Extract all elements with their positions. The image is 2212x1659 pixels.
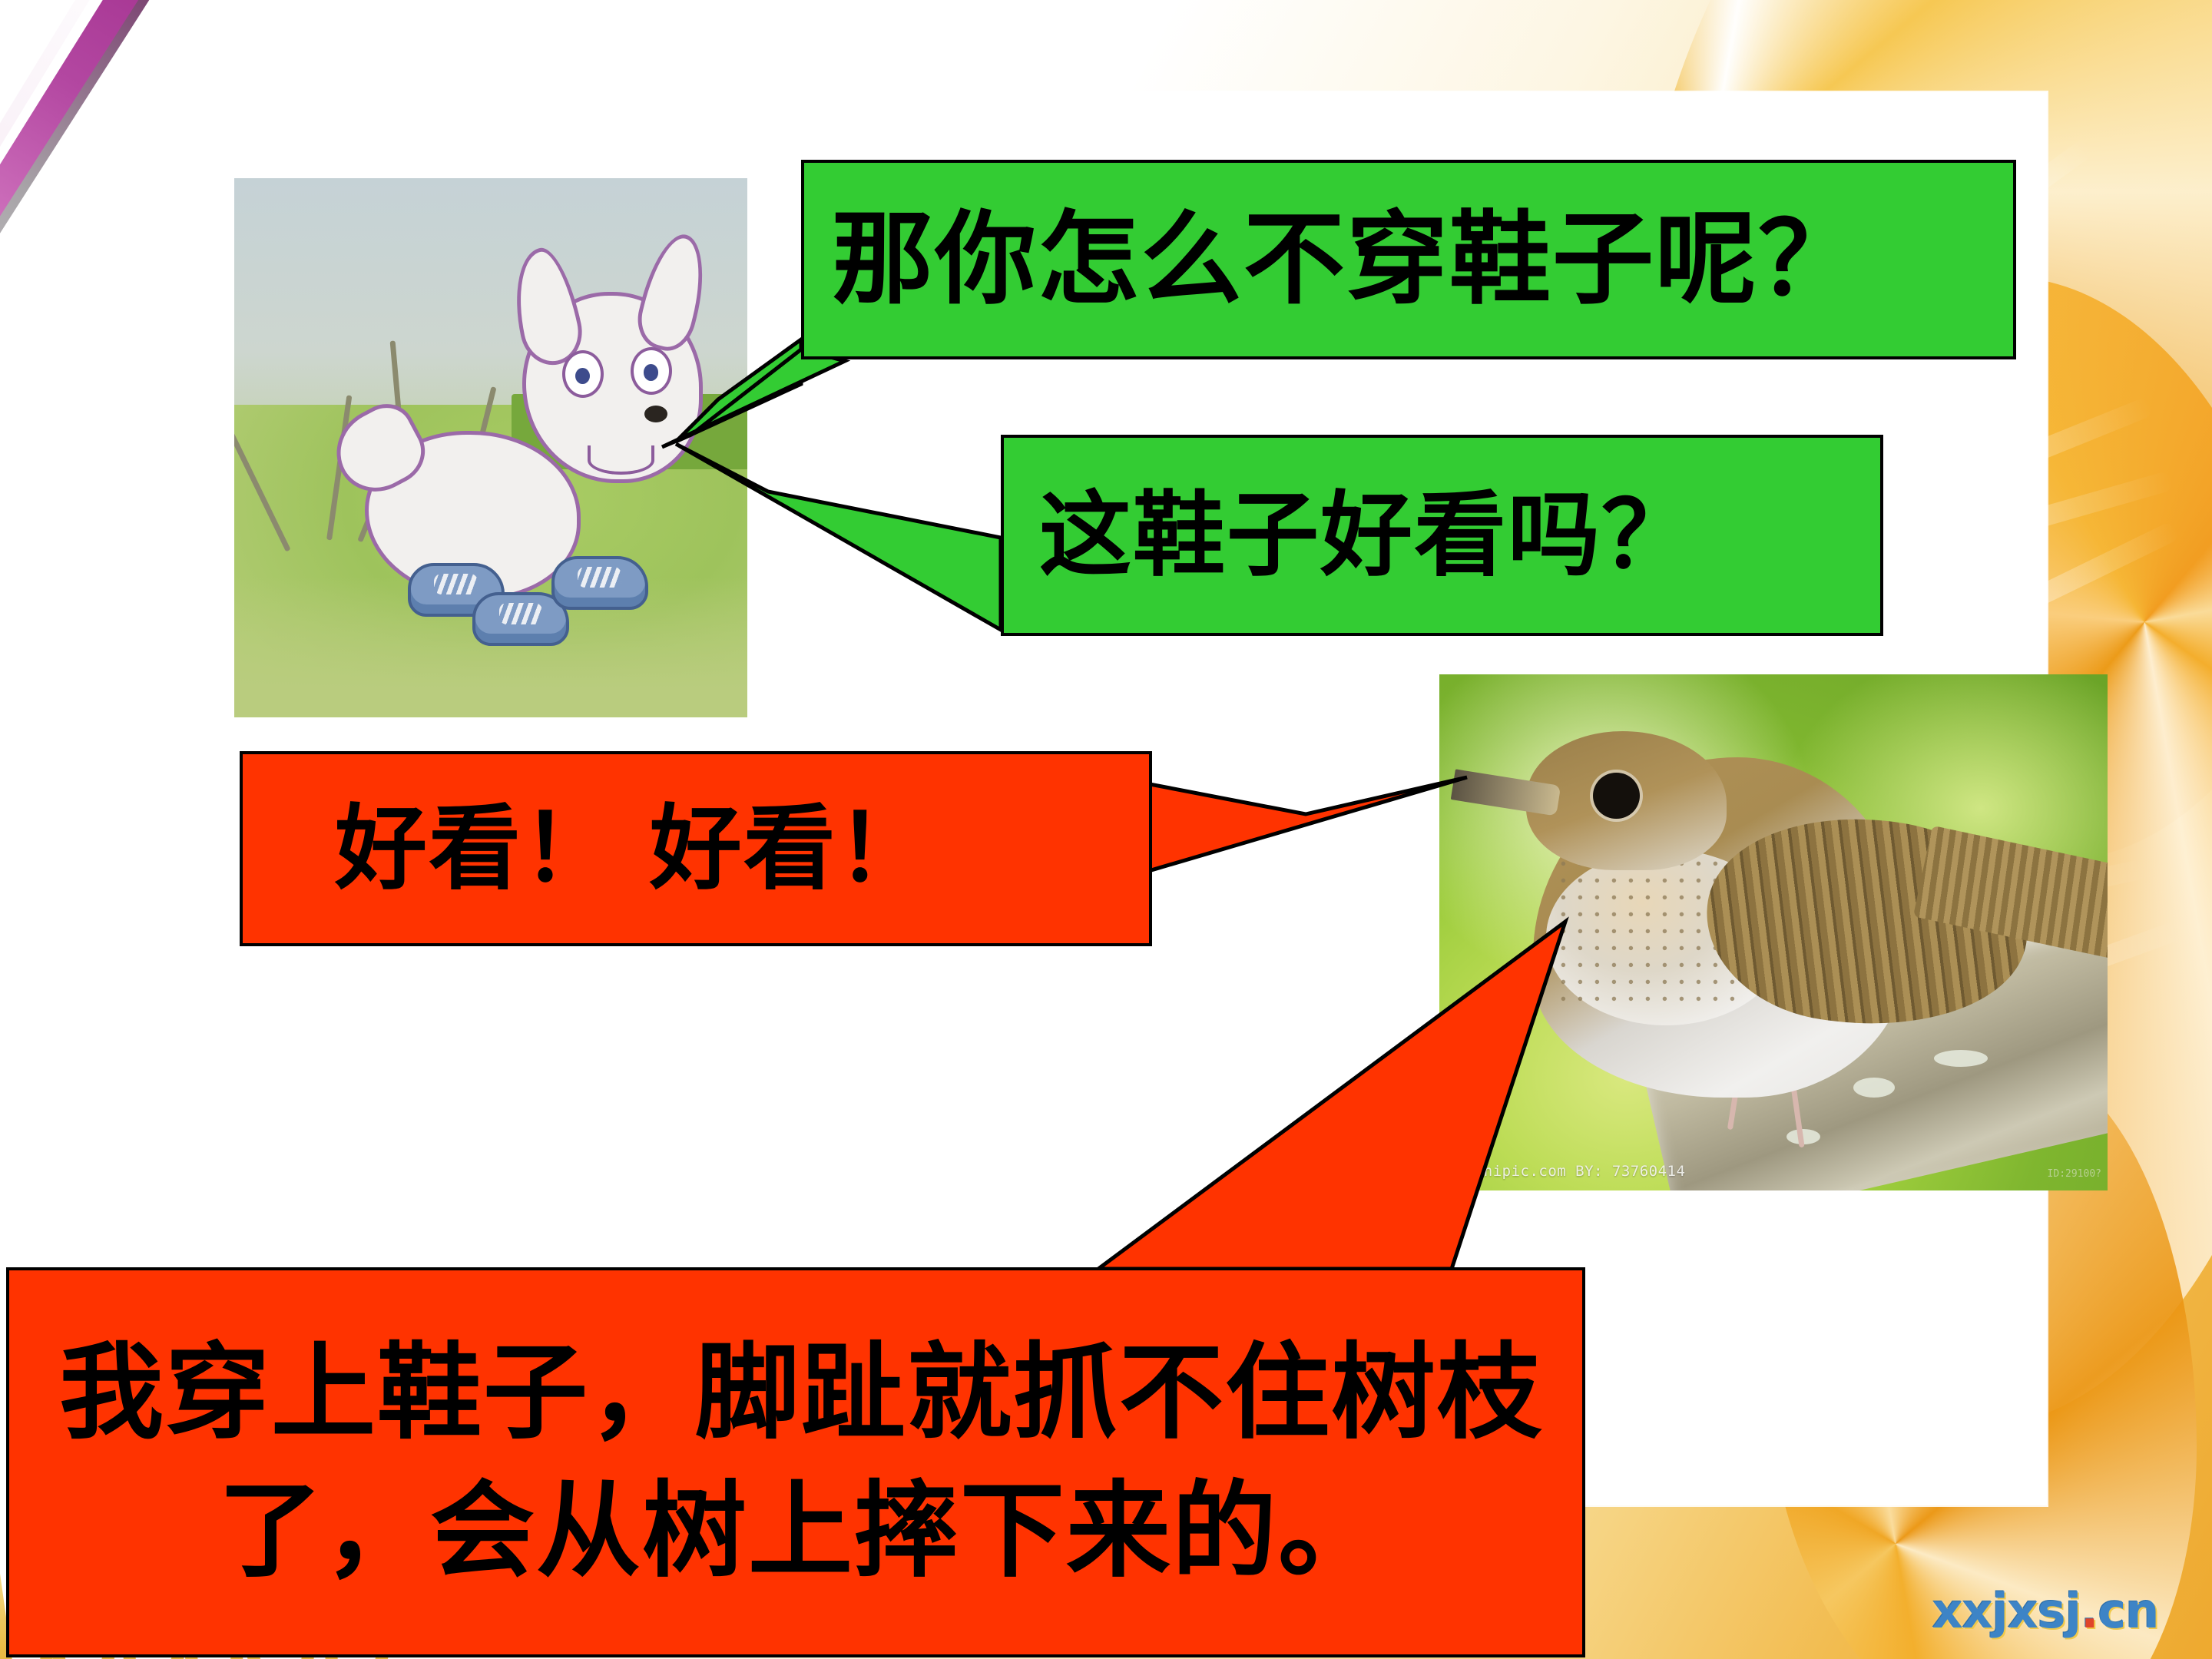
bird-eye (1593, 773, 1640, 819)
puppy-figure (357, 270, 717, 636)
speech-bubble-green-2-text: 这鞋子好看吗？ (1004, 487, 1880, 584)
speech-bubble-green-2[interactable]: 这鞋子好看吗？ (1001, 435, 1883, 636)
puppy-with-shoes-illustration (234, 178, 747, 717)
decorative-purple-ribbon (0, 0, 246, 576)
speech-bubble-red-2[interactable]: 我穿上鞋子，脚趾就抓不住树枝了，会从树上摔下来的。 (6, 1267, 1585, 1657)
photo-watermark-corner: ID:29100? (2048, 1168, 2101, 1180)
bird-on-branch-photo: www.nipic.com BY: 73760414 ID:29100? (1439, 674, 2108, 1190)
speech-bubble-red-2-text: 我穿上鞋子，脚趾就抓不住树枝了，会从树上摔下来的。 (9, 1324, 1582, 1600)
speech-bubble-green-1-text: 那你怎么不穿鞋子呢？ (804, 207, 2013, 313)
site-watermark-name: xxjxsj (1932, 1583, 2081, 1639)
photo-watermark: www.nipic.com BY: 73760414 (1447, 1163, 1685, 1180)
speech-bubble-green-1[interactable]: 那你怎么不穿鞋子呢？ (801, 160, 2016, 359)
speech-bubble-red-1[interactable]: 好看！ 好看！ (240, 751, 1152, 946)
site-watermark-tld: cn (2098, 1583, 2159, 1639)
slide-canvas: www.nipic.com BY: 73760414 ID:29100? 那你怎… (0, 0, 2212, 1659)
speech-bubble-red-1-text: 好看！ 好看！ (243, 800, 1149, 897)
site-watermark-dot: . (2081, 1583, 2098, 1639)
site-watermark: xxjxsj.cn (1894, 1573, 2197, 1648)
